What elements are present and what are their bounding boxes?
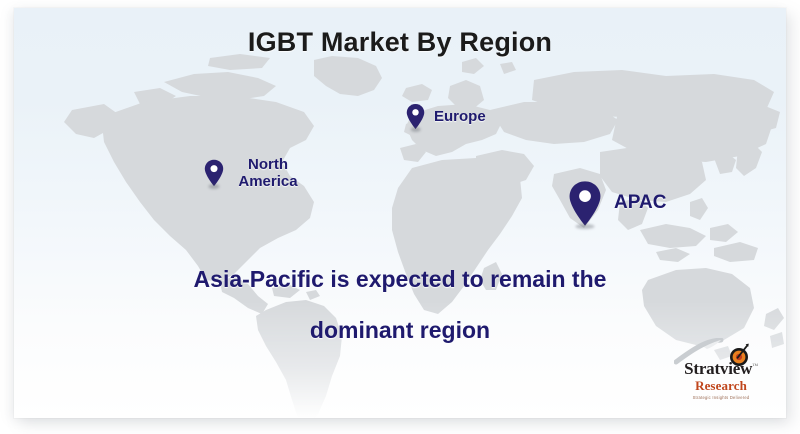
marker-label-line-1: North bbox=[248, 156, 288, 173]
stratview-research-logo[interactable]: Stratview™ Research Strategic Insights D… bbox=[668, 338, 774, 404]
infographic-card: IGBT Market By Region bbox=[14, 8, 786, 418]
logo-wordmark-text: Stratview bbox=[684, 359, 752, 378]
headline-statement: Asia-Pacific is expected to remain the d… bbox=[14, 268, 786, 342]
pin-shadow bbox=[410, 127, 421, 132]
pin-shadow bbox=[575, 224, 594, 229]
logo-wordmark: Stratview™ bbox=[668, 359, 774, 379]
trademark-symbol: ™ bbox=[752, 363, 758, 369]
map-marker-label-europe: Europe bbox=[434, 108, 486, 125]
map-marker-north-america[interactable]: North America bbox=[204, 156, 304, 191]
logo-tagline: Strategic Insights Delivered bbox=[669, 395, 773, 400]
screenshot-stage: IGBT Market By Region bbox=[0, 0, 800, 434]
location-pin-icon bbox=[568, 180, 602, 227]
marker-label-line-2: America bbox=[238, 173, 297, 190]
map-marker-label-north-america: North America bbox=[232, 156, 304, 191]
map-marker-label-apac: APAC bbox=[614, 192, 666, 214]
pin-shadow bbox=[208, 184, 219, 189]
logo-subtitle: Research bbox=[668, 378, 774, 394]
location-pin-icon bbox=[204, 159, 224, 187]
headline-line-1: Asia-Pacific is expected to remain the bbox=[14, 268, 786, 291]
location-pin-icon bbox=[406, 103, 425, 130]
map-marker-apac[interactable]: APAC bbox=[568, 180, 666, 227]
page-title: IGBT Market By Region bbox=[14, 27, 786, 58]
map-marker-europe[interactable]: Europe bbox=[406, 103, 486, 130]
